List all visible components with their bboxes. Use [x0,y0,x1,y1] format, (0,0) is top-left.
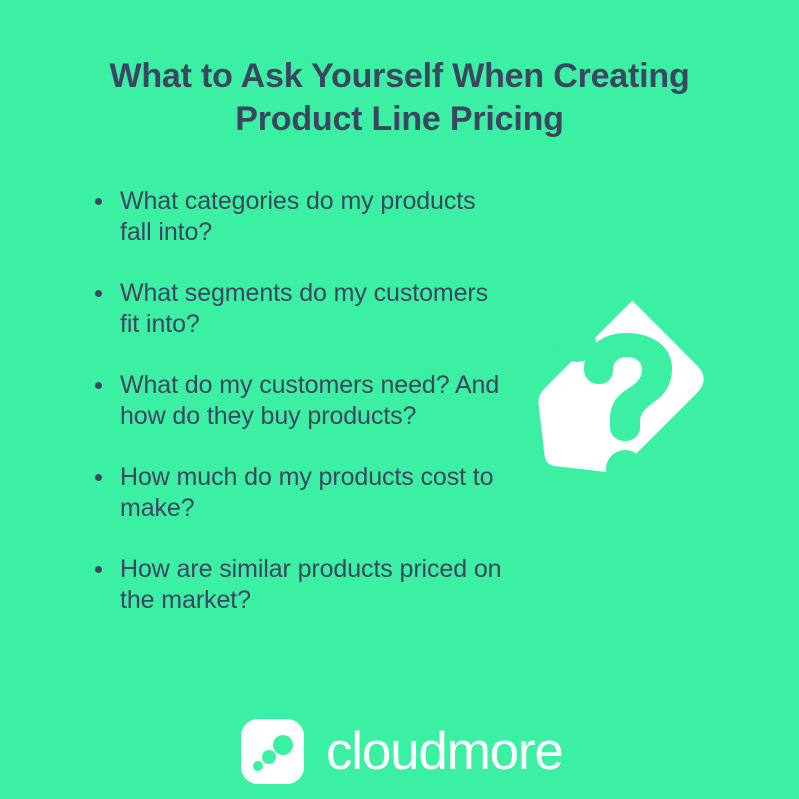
logo-dot-large [273,735,293,755]
list-item: How are similar products priced on the m… [92,554,512,615]
question-list: What categories do my products fall into… [92,186,512,615]
page-title: What to Ask Yourself When Creating Produ… [80,55,719,141]
list-item-label: What segments do my customers fit into? [120,279,488,338]
bullet-dot-icon [95,198,102,205]
price-tag-question-mark-icon [514,296,728,506]
cloudmore-dots-mark-icon [241,719,304,784]
cloudmore-logo: cloudmore [241,719,563,784]
logo-dot-small [253,761,263,771]
list-item: What categories do my products fall into… [92,186,512,247]
bullet-dot-icon [95,290,102,297]
bullet-dot-icon [95,382,102,389]
list-item-label: What do my customers need? And how do th… [120,371,499,430]
list-item-label: What categories do my products fall into… [120,187,476,246]
list-item: What do my customers need? And how do th… [92,370,512,431]
brand-wordmark: cloudmore [326,725,563,778]
bullet-dot-icon [95,566,102,573]
list-item-label: How much do my products cost to make? [120,463,493,522]
infographic-canvas: What to Ask Yourself When Creating Produ… [0,0,799,799]
title-line-1: What to Ask Yourself When Creating [80,55,719,98]
list-item: What segments do my customers fit into? [92,278,512,339]
list-item-label: How are similar products priced on the m… [120,555,501,614]
logo-dot-medium [262,750,276,764]
bullet-dot-icon [95,474,102,481]
list-item: How much do my products cost to make? [92,462,512,523]
title-line-2: Product Line Pricing [80,98,719,141]
